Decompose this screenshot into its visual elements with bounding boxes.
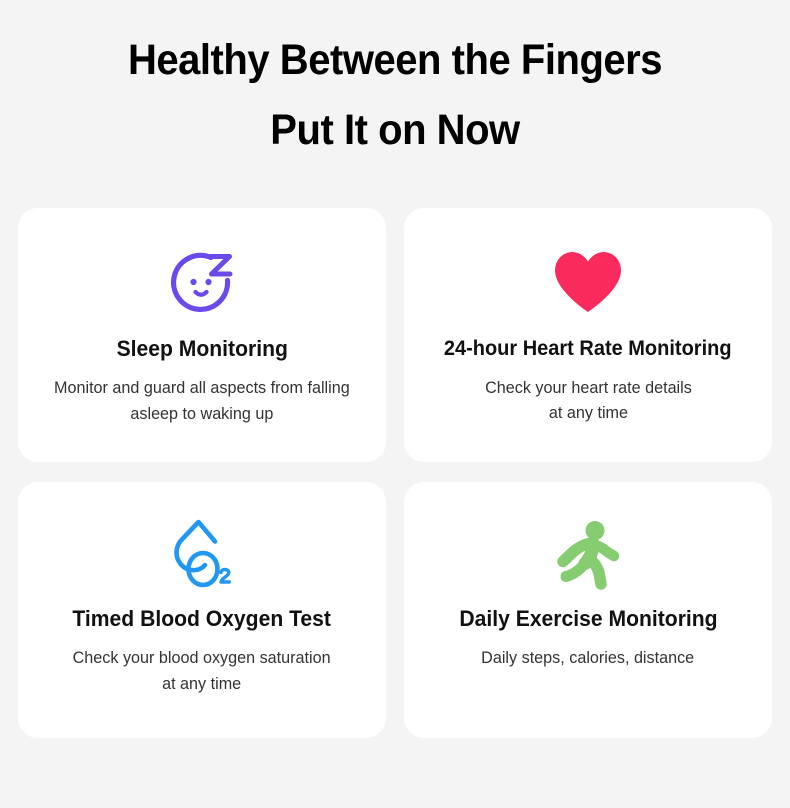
- card-description-line-2: at any time: [548, 404, 627, 422]
- heart-icon-wrap: [552, 230, 624, 334]
- feature-card-daily-exercise-monitoring: Daily Exercise Monitoring Daily steps, c…: [404, 482, 772, 738]
- card-description: Check your heart rate details at any tim…: [471, 376, 705, 427]
- feature-card-blood-oxygen-test: Timed Blood Oxygen Test Check your blood…: [18, 482, 386, 738]
- heart-icon: [552, 250, 624, 314]
- card-description: Check your blood oxygen saturation at an…: [59, 646, 344, 697]
- card-title: Timed Blood Oxygen Test: [73, 606, 332, 632]
- card-description-line-1: Monitor and guard all aspects from falli…: [54, 379, 350, 397]
- card-description-line-1: Check your blood oxygen saturation: [73, 649, 331, 667]
- card-description: Monitor and guard all aspects from falli…: [40, 376, 363, 427]
- running-person-icon: [552, 520, 624, 592]
- feature-card-sleep-monitoring: Sleep Monitoring Monitor and guard all a…: [18, 208, 386, 462]
- blood-oxygen-droplet-icon: [165, 519, 239, 593]
- card-title: Sleep Monitoring: [116, 336, 287, 362]
- card-description: Daily steps, calories, distance: [468, 646, 708, 672]
- sleep-icon-wrap: [167, 230, 237, 334]
- card-description-line-1: Check your heart rate details: [485, 379, 692, 397]
- card-description-line-2: at any time: [162, 675, 241, 693]
- running-icon-wrap: [552, 508, 624, 604]
- feature-card-heart-rate-monitoring: 24-hour Heart Rate Monitoring Check your…: [404, 208, 772, 462]
- blood-oxygen-icon-wrap: [165, 508, 239, 604]
- feature-highlights-page: Healthy Between the Fingers Put It on No…: [0, 0, 790, 808]
- card-title: 24-hour Heart Rate Monitoring: [444, 336, 732, 362]
- card-description-line-2: asleep to waking up: [131, 405, 274, 423]
- headline-line-2: Put It on Now: [28, 96, 763, 166]
- card-description-line-1: Daily steps, calories, distance: [481, 649, 694, 667]
- feature-card-grid: Sleep Monitoring Monitor and guard all a…: [18, 208, 772, 738]
- page-headline: Healthy Between the Fingers Put It on No…: [28, 0, 763, 165]
- headline-line-1: Healthy Between the Fingers: [28, 26, 763, 96]
- card-title: Daily Exercise Monitoring: [459, 606, 717, 632]
- sleep-face-z-icon: [167, 247, 237, 317]
